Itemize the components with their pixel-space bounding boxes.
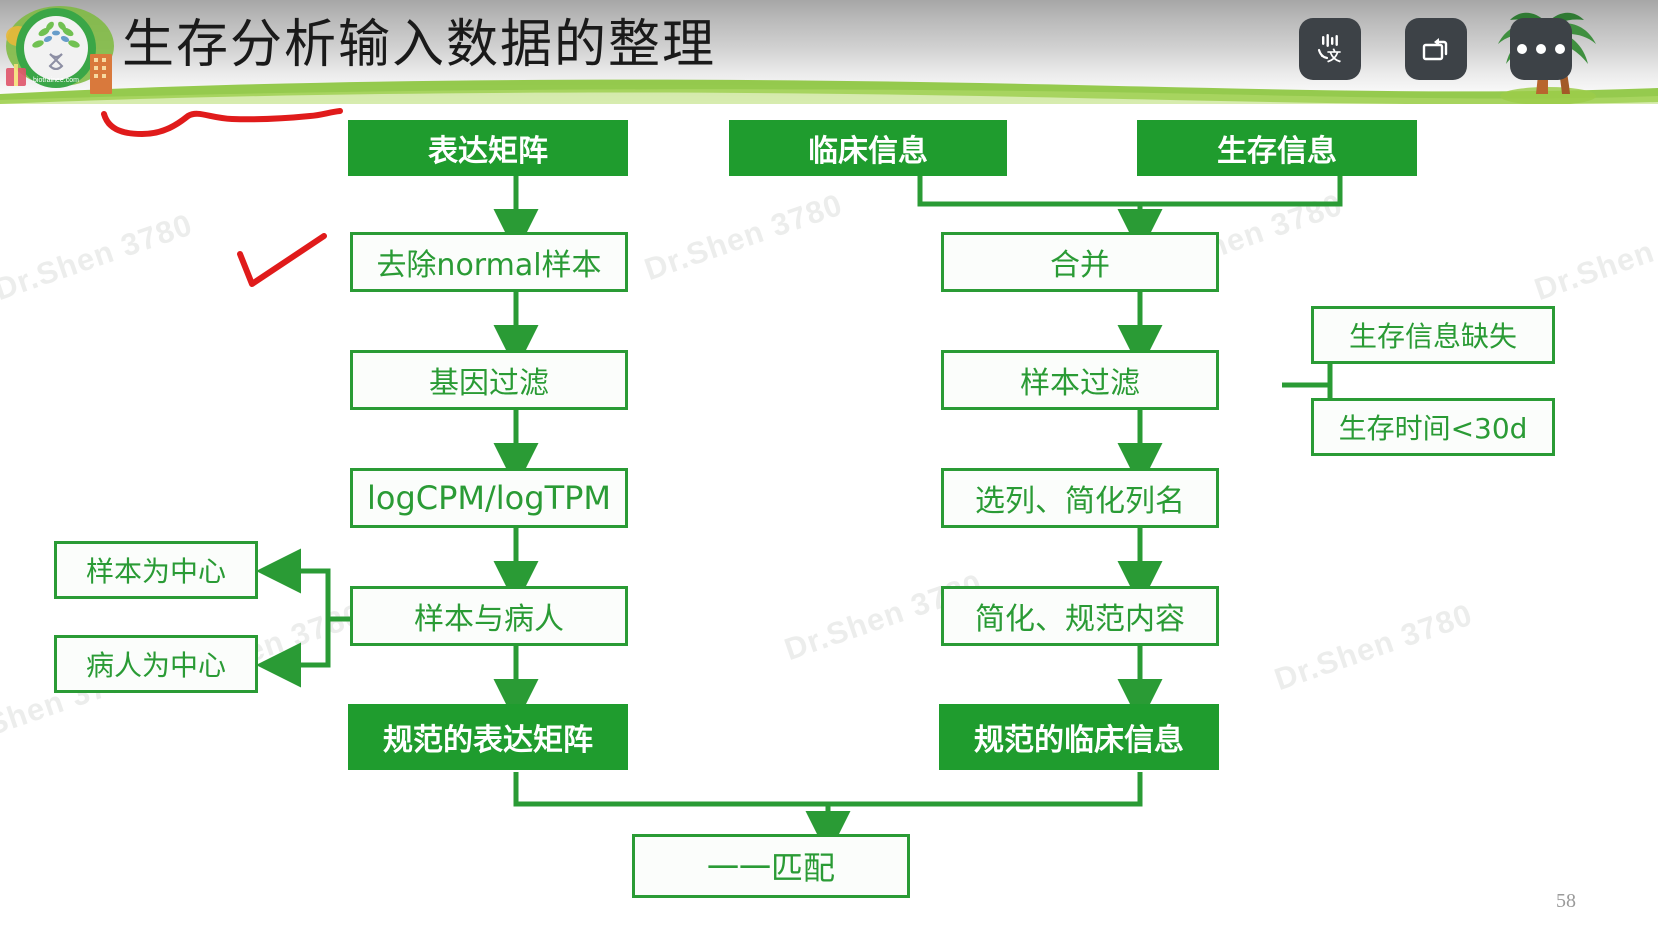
slide-content: Dr.Shen 3780 Dr.Shen 3780 Dr.Shen 3780 D… xyxy=(0,104,1658,926)
red-check-annotation xyxy=(240,236,324,284)
node-sample-filter[interactable]: 样本过滤 xyxy=(941,350,1219,410)
node-standard-clinical-info[interactable]: 规范的临床信息 xyxy=(939,704,1219,770)
picture-in-picture-button[interactable] xyxy=(1405,18,1467,80)
node-select-columns[interactable]: 选列、简化列名 xyxy=(941,468,1219,528)
biotrainee-logo: biotrainee.com xyxy=(4,2,116,98)
red-underline-annotation xyxy=(104,111,340,134)
svg-text:biotrainee.com: biotrainee.com xyxy=(33,77,79,84)
page-title: 生存分析输入数据的整理 xyxy=(122,6,716,84)
node-sample-centric[interactable]: 样本为中心 xyxy=(54,541,258,599)
node-one-to-one-match[interactable]: 一一匹配 xyxy=(632,834,910,898)
node-survival-info[interactable]: 生存信息 xyxy=(1137,120,1417,176)
node-merge[interactable]: 合并 xyxy=(941,232,1219,292)
node-standard-expression-matrix[interactable]: 规范的表达矩阵 xyxy=(348,704,628,770)
more-options-button[interactable] xyxy=(1510,18,1572,80)
node-gene-filter[interactable]: 基因过滤 xyxy=(350,350,628,410)
node-clinical-info[interactable]: 临床信息 xyxy=(729,120,1007,176)
slide-viewer: biotrainee.com 生存分析输入数据的整理 xyxy=(0,0,1658,926)
caption-button[interactable]: 文 xyxy=(1299,18,1361,80)
node-simplify-content[interactable]: 简化、规范内容 xyxy=(941,586,1219,646)
node-expression-matrix[interactable]: 表达矩阵 xyxy=(348,120,628,176)
node-survival-info-missing[interactable]: 生存信息缺失 xyxy=(1311,306,1555,364)
picture-in-picture-icon xyxy=(1419,32,1453,66)
node-logcpm-logtpm[interactable]: logCPM/logTPM xyxy=(350,468,628,528)
svg-text:文: 文 xyxy=(1327,48,1342,65)
node-survival-time-lt-30d[interactable]: 生存时间<30d xyxy=(1311,398,1555,456)
node-remove-normal-samples[interactable]: 去除normal样本 xyxy=(350,232,628,292)
flowchart-connectors xyxy=(0,104,1658,926)
page-number: 58 xyxy=(1556,890,1576,913)
node-patient-centric[interactable]: 病人为中心 xyxy=(54,635,258,693)
node-sample-and-patient[interactable]: 样本与病人 xyxy=(350,586,628,646)
more-options-icon xyxy=(1517,44,1565,54)
slide-header: biotrainee.com 生存分析输入数据的整理 xyxy=(0,0,1658,104)
caption-icon: 文 xyxy=(1313,32,1347,66)
